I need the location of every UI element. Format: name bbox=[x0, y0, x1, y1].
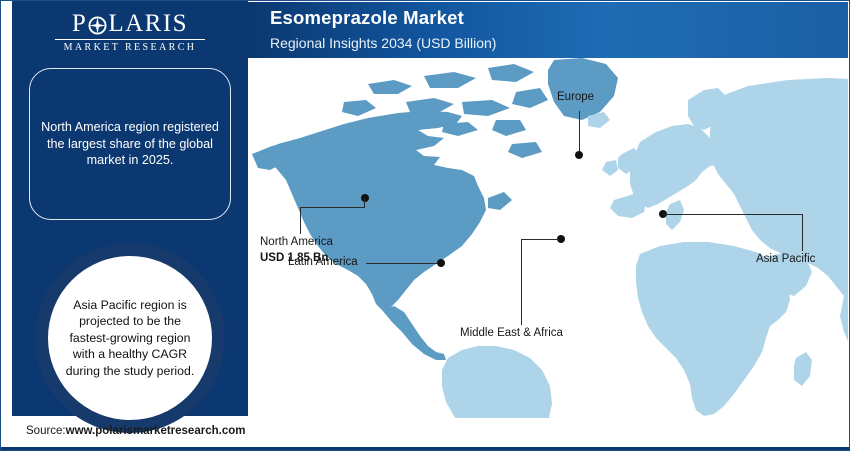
source-note: Source:www.polarismarketresearch.com bbox=[26, 425, 245, 437]
infographic-page: P LARIS MARKET RESEARCH North America re… bbox=[0, 0, 850, 451]
map-regions bbox=[252, 58, 848, 418]
source-url: www.polarismarketresearch.com bbox=[66, 425, 246, 437]
logo-wordmark: P LARIS bbox=[72, 11, 188, 36]
brand-logo: P LARIS MARKET RESEARCH bbox=[12, 6, 248, 58]
marker-europe bbox=[575, 151, 583, 159]
region-latin-america bbox=[442, 346, 552, 418]
leader-north-america-h bbox=[300, 207, 365, 208]
label-latin-america: Latin America bbox=[288, 256, 358, 268]
logo-subtitle: MARKET RESEARCH bbox=[64, 42, 197, 53]
label-middle-east-africa: Middle East & Africa bbox=[460, 327, 563, 339]
callout-circle-asia-pacific: Asia Pacific region is projected to be t… bbox=[35, 243, 225, 433]
label-europe: Europe bbox=[557, 91, 594, 103]
leader-asia-pacific-v bbox=[802, 214, 803, 251]
region-north-america bbox=[252, 58, 618, 360]
label-north-america: North America bbox=[260, 236, 333, 248]
logo-text-post: LARIS bbox=[108, 11, 188, 36]
leader-mea-v bbox=[521, 239, 522, 325]
logo-text-pre: P bbox=[72, 11, 87, 36]
leader-europe-v bbox=[579, 111, 580, 153]
callout-circle-text: Asia Pacific region is projected to be t… bbox=[48, 297, 212, 379]
marker-latin-america bbox=[437, 259, 445, 267]
leader-latin-america-h bbox=[366, 263, 441, 264]
header-band: Esomeprazole Market Regional Insights 20… bbox=[248, 2, 848, 58]
bottom-accent-bar bbox=[1, 447, 849, 450]
label-asia-pacific: Asia Pacific bbox=[756, 253, 815, 265]
leader-north-america-v2 bbox=[300, 207, 301, 234]
world-map-svg bbox=[248, 58, 848, 418]
page-title: Esomeprazole Market bbox=[270, 7, 848, 29]
world-map: North America USD 1.85 Bn Europe Asia Pa… bbox=[248, 58, 848, 418]
source-prefix: Source: bbox=[26, 425, 66, 437]
callout-box-text: North America region registered the larg… bbox=[30, 119, 230, 169]
leader-mea-h bbox=[521, 239, 559, 240]
page-subtitle: Regional Insights 2034 (USD Billion) bbox=[270, 35, 848, 51]
leader-asia-pacific-h bbox=[663, 214, 803, 215]
callout-box-north-america: North America region registered the larg… bbox=[29, 68, 231, 220]
logo-divider bbox=[55, 39, 205, 40]
compass-star-icon bbox=[88, 15, 107, 34]
